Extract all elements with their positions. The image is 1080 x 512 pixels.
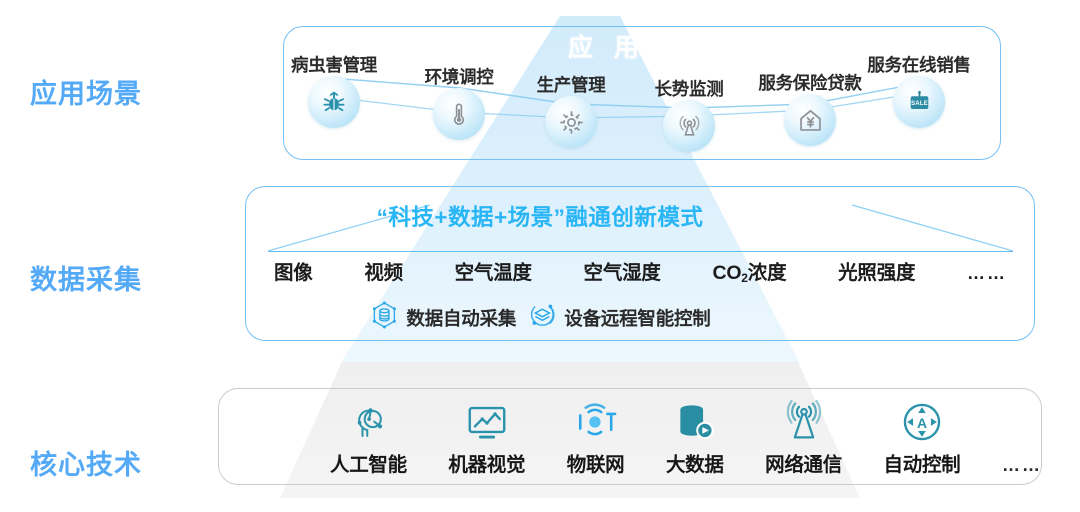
- app-node-environment-control[interactable]: 环境调控: [433, 88, 485, 140]
- tech-item-label: 人工智能: [330, 448, 407, 477]
- gear-icon: [545, 96, 597, 148]
- tech-item-label: 自动控制: [884, 448, 961, 477]
- data-feature-label: 设备远程智能控制: [564, 305, 710, 331]
- database-stack-icon: [673, 398, 717, 444]
- data-feature-label: 数据自动采集: [406, 305, 516, 331]
- tech-item-ai[interactable]: 人工智能: [330, 398, 407, 477]
- app-node-label: 服务保险贷款: [758, 70, 861, 95]
- tech-item-machine-vision[interactable]: 机器视觉: [448, 398, 525, 477]
- app-node-label: 环境调控: [425, 64, 494, 89]
- app-node-label: 服务在线销售: [867, 52, 970, 77]
- infographic-root: 应用场景 数据采集 核心技术 应 用 服 务 病虫害管理 环境调控: [0, 0, 1080, 512]
- bug-icon: [308, 76, 360, 128]
- data-item: 空气湿度: [584, 256, 661, 285]
- sale-tag-icon: SALE: [893, 76, 945, 128]
- tech-item-network-communication[interactable]: 网络通信: [765, 398, 842, 477]
- tech-item-iot[interactable]: 物联网: [567, 398, 625, 477]
- database-network-icon: [369, 300, 399, 335]
- tech-item-auto-control[interactable]: A 自动控制: [884, 398, 961, 477]
- app-node-online-sales[interactable]: 服务在线销售 SALE: [893, 76, 945, 128]
- tech-item-label: 大数据: [666, 448, 724, 477]
- data-item: 视频: [364, 256, 403, 285]
- application-service-watermark: 应 用 服 务: [568, 28, 738, 64]
- app-node-production-management[interactable]: 生产管理: [545, 96, 597, 148]
- antenna-signal-icon: [663, 100, 715, 152]
- data-items-row: 图像 视频 空气温度 空气湿度 CO2浓度 光照强度 ……: [268, 256, 1013, 285]
- data-divider: [268, 251, 1013, 252]
- broadcast-tower-icon: [782, 398, 826, 444]
- app-node-growth-monitoring[interactable]: 长势监测: [663, 100, 715, 152]
- ai-brain-icon: [346, 398, 390, 444]
- iot-icon: [574, 398, 618, 444]
- data-item: 光照强度: [838, 256, 915, 285]
- data-feature-remote-control: 设备远程智能控制: [527, 300, 710, 335]
- technology-items-row: 人工智能 机器视觉: [330, 398, 1042, 477]
- data-item-co2: CO2浓度: [712, 256, 786, 285]
- tech-item-label: 网络通信: [765, 448, 842, 477]
- data-item: 空气温度: [455, 256, 532, 285]
- tech-item-label: 物联网: [567, 448, 625, 477]
- monitor-chart-icon: [465, 398, 509, 444]
- svg-text:SALE: SALE: [911, 101, 928, 107]
- svg-text:A: A: [917, 415, 927, 431]
- layers-orbit-icon: [527, 300, 557, 335]
- row-label-technology: 核心技术: [30, 443, 142, 482]
- data-item: 图像: [274, 256, 313, 285]
- thermometer-icon: [433, 88, 485, 140]
- row-label-application: 应用场景: [30, 72, 142, 111]
- tech-items-ellipsis: ……: [1002, 455, 1042, 477]
- app-node-label: 长势监测: [655, 76, 724, 101]
- row-label-data: 数据采集: [30, 258, 142, 297]
- tech-item-label: 机器视觉: [448, 448, 525, 477]
- auto-control-icon: A: [900, 398, 944, 444]
- app-node-label: 生产管理: [537, 72, 606, 97]
- app-node-label: 病虫害管理: [291, 52, 377, 77]
- data-collection-title: “科技+数据+场景”融通创新模式: [377, 200, 704, 232]
- app-node-pest-management[interactable]: 病虫害管理: [308, 76, 360, 128]
- house-yen-icon: [784, 94, 836, 146]
- data-features-row: 数据自动采集 设备远程智能控制: [369, 300, 710, 335]
- data-feature-auto-collection: 数据自动采集: [369, 300, 516, 335]
- app-node-insurance-loan[interactable]: 服务保险贷款: [784, 94, 836, 146]
- tech-item-big-data[interactable]: 大数据: [666, 398, 724, 477]
- data-item-ellipsis: ……: [967, 263, 1007, 284]
